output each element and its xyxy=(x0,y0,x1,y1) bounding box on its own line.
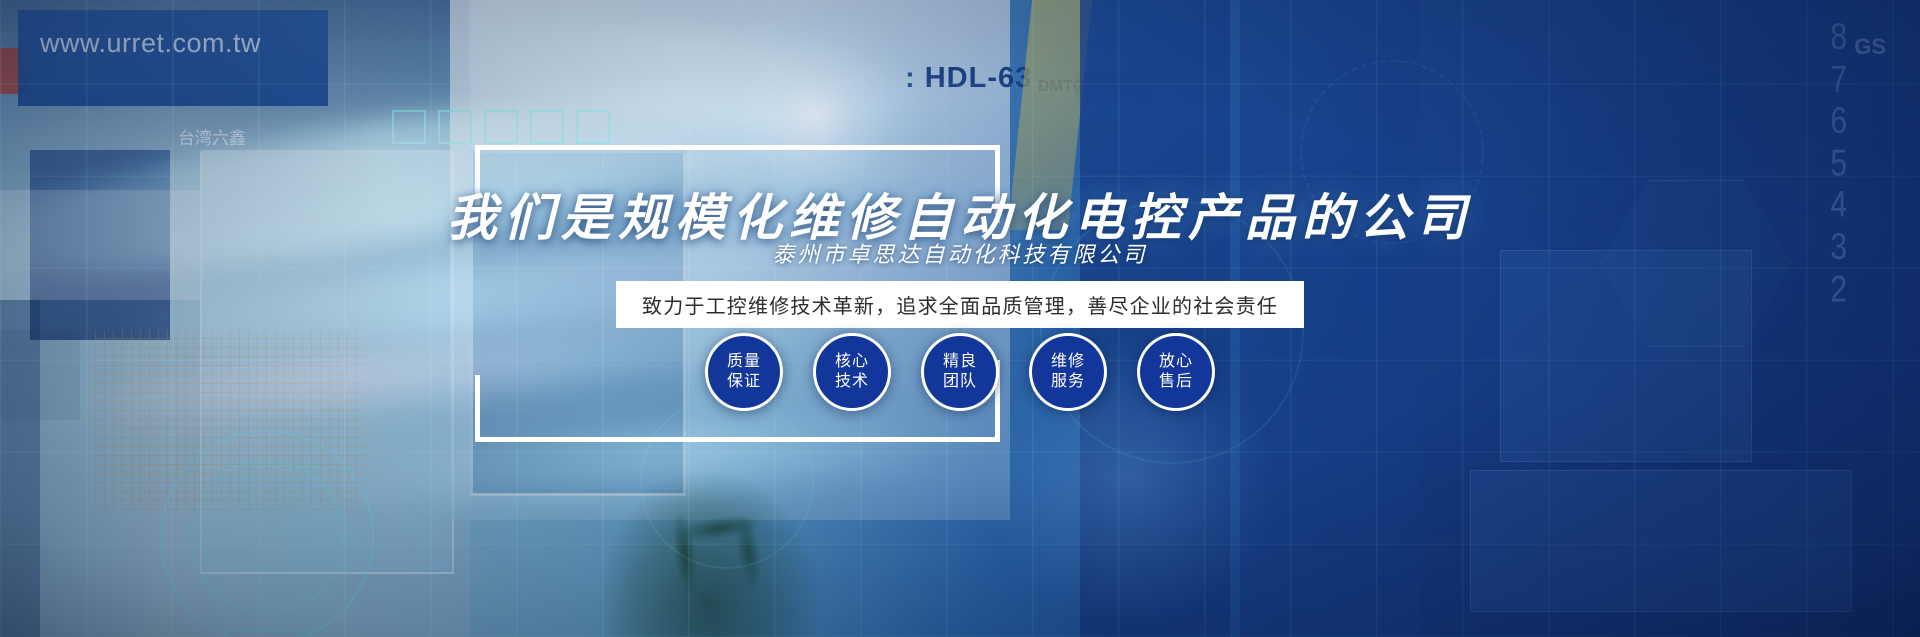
badge-line2: 保证 xyxy=(727,372,761,392)
badge-expert-team[interactable]: 精良 团队 xyxy=(921,333,999,411)
tagline-box: 致力于工控维修技术革新，追求全面品质管理，善尽企业的社会责任 xyxy=(616,281,1304,328)
badge-line1: 质量 xyxy=(727,352,761,372)
badge-quality-assurance[interactable]: 质量 保证 xyxy=(705,333,783,411)
badge-line1: 精良 xyxy=(943,352,977,372)
hero-banner: www.urret.com.tw 台湾六鑫 : HDL-63 DMTG 8765… xyxy=(0,0,1920,637)
badge-line2: 服务 xyxy=(1051,372,1085,392)
frame-bottom-left-corner xyxy=(475,375,480,442)
badge-line2: 团队 xyxy=(943,372,977,392)
badge-line1: 维修 xyxy=(1051,352,1085,372)
badge-core-technology[interactable]: 核心 技术 xyxy=(813,333,891,411)
badge-repair-service[interactable]: 维修 服务 xyxy=(1029,333,1107,411)
banner-content: 我们是规模化维修自动化电控产品的公司 泰州市卓思达自动化科技有限公司 致力于工控… xyxy=(0,0,1920,637)
badge-line2: 技术 xyxy=(835,372,869,392)
tagline-text: 致力于工控维修技术革新，追求全面品质管理，善尽企业的社会责任 xyxy=(642,296,1278,318)
company-name-subtitle: 泰州市卓思达自动化科技有限公司 xyxy=(772,237,1147,269)
badge-line1: 核心 xyxy=(835,352,869,372)
badge-after-sales[interactable]: 放心 售后 xyxy=(1137,333,1215,411)
badge-line2: 售后 xyxy=(1159,372,1193,392)
feature-badge-row: 质量 保证 核心 技术 精良 团队 维修 服务 放心 售后 xyxy=(705,333,1215,411)
frame-top-edge xyxy=(475,145,1000,150)
frame-bottom-edge xyxy=(475,437,1000,442)
badge-line1: 放心 xyxy=(1159,352,1193,372)
